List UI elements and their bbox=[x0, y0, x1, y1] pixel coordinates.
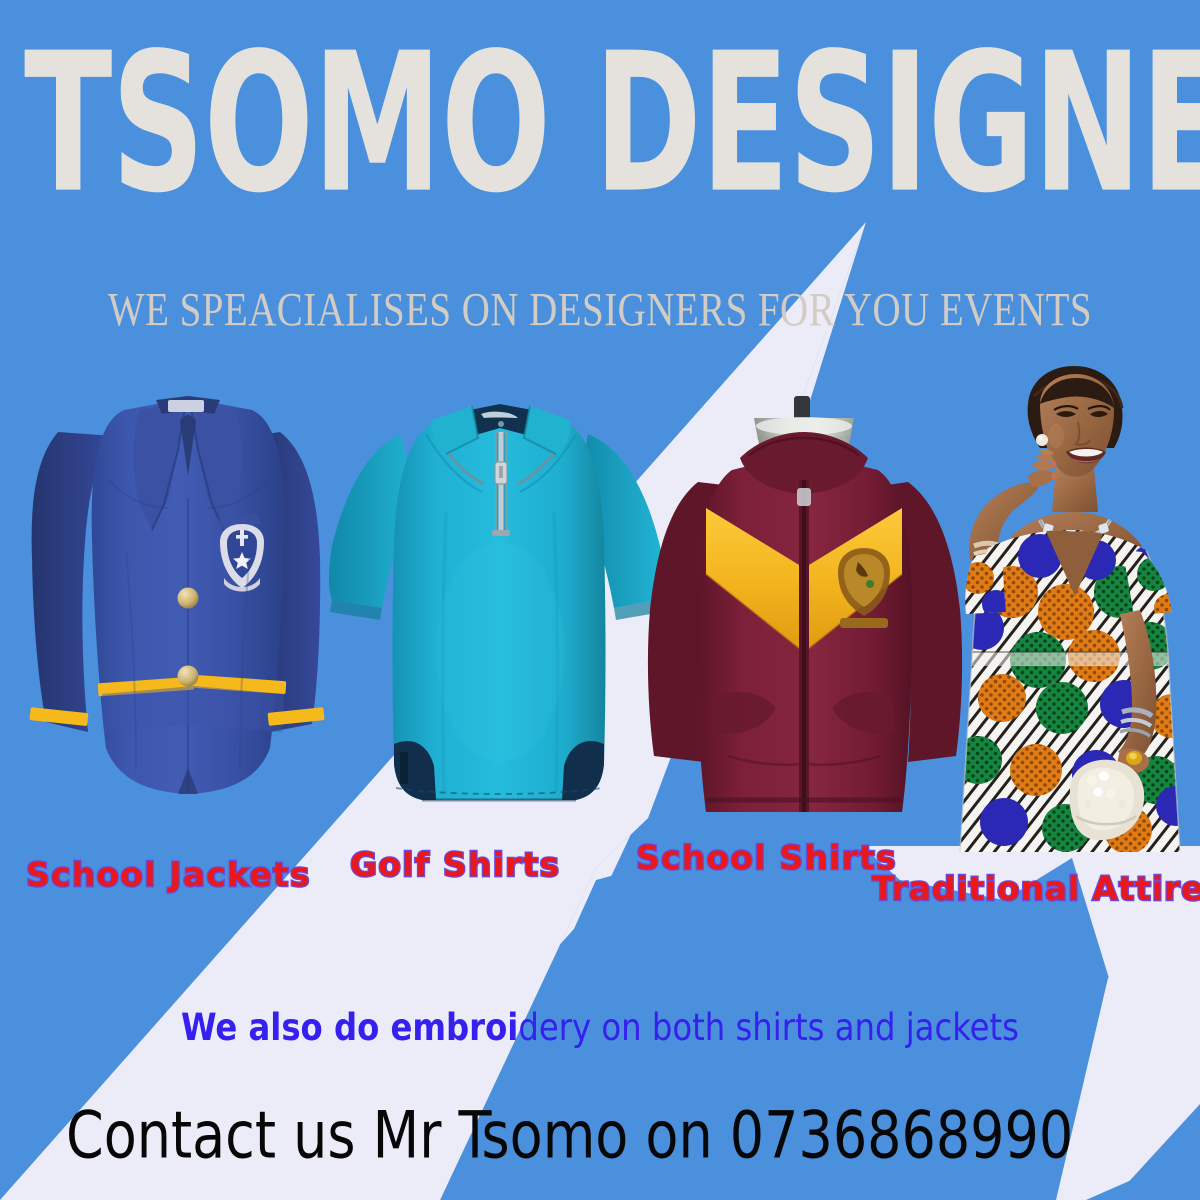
caption-traditional-attire: Traditional Attire bbox=[872, 869, 1200, 908]
tagline: WE SPEACIALISES ON DESIGNERS FOR YOU EVE… bbox=[30, 282, 1170, 337]
product-image-golf-shirts bbox=[326, 392, 674, 840]
caption-golf-shirts: Golf Shirts bbox=[350, 845, 560, 884]
embroidery-note: We also do embroidery on both shirts and… bbox=[18, 1006, 1182, 1049]
product-image-traditional-attire bbox=[944, 360, 1200, 852]
caption-school-jackets: School Jackets bbox=[26, 855, 311, 894]
contact-line: Contact us Mr Tsomo on 0736868990 bbox=[66, 1098, 1073, 1174]
poster-canvas: TSOMO DESIGNER WE SPEACIALISES ON DESIGN… bbox=[0, 0, 1200, 1200]
blazer-crest-badge bbox=[220, 524, 264, 592]
blazer-button-bottom bbox=[178, 666, 199, 687]
pearl-earring bbox=[1036, 434, 1048, 446]
product-image-school-jackets bbox=[28, 380, 344, 840]
page-title: TSOMO DESIGNER bbox=[24, 36, 1176, 213]
product-showcase bbox=[0, 360, 1200, 860]
blazer-button-top bbox=[178, 588, 199, 609]
caption-school-shirts: School Shirts bbox=[636, 838, 897, 877]
embroidery-note-regular: dery on both shirts and jackets bbox=[518, 1006, 1019, 1049]
product-image-school-shirts bbox=[636, 396, 982, 846]
embroidery-note-bold: We also do embroi bbox=[181, 1006, 518, 1049]
